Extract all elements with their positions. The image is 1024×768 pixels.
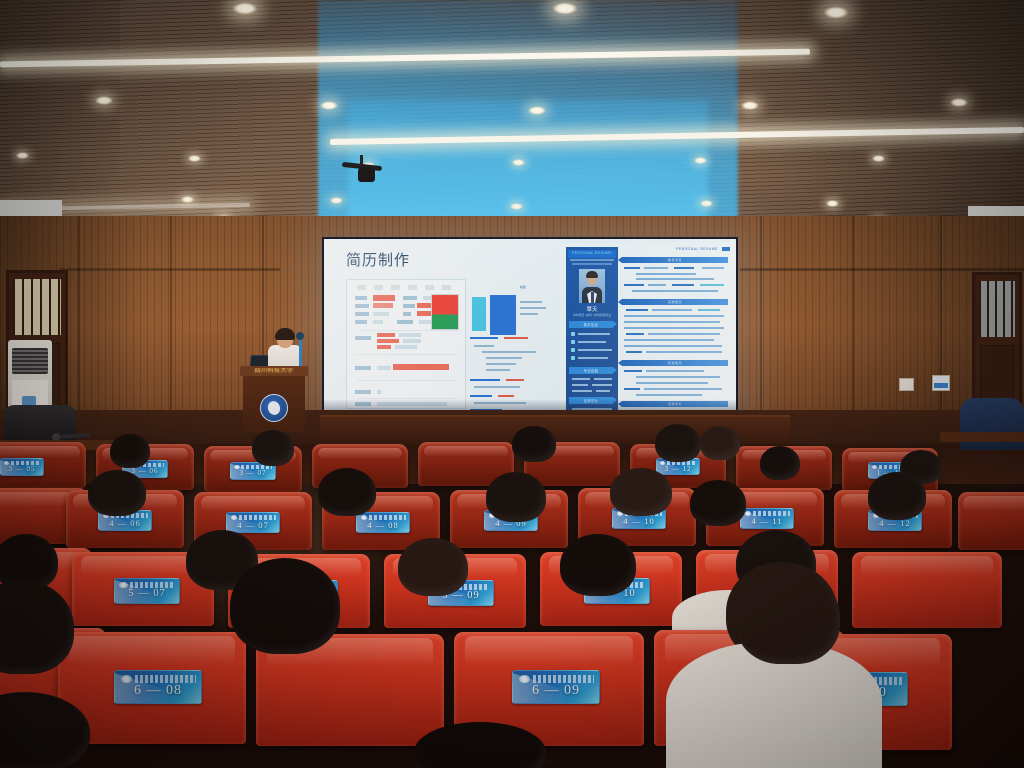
university-crest-icon (260, 394, 288, 422)
seat-number-plate: 6 — 09 (512, 670, 600, 704)
projection-screen: 简历制作 (322, 237, 738, 419)
resume-main-header-badge (722, 247, 730, 251)
ceiling-downlight (823, 6, 849, 19)
audience-head (512, 426, 556, 462)
wall-socket-plate[interactable] (932, 375, 950, 391)
audience-head (700, 426, 740, 460)
audience-head (110, 434, 150, 468)
resume-sidebar: PERSONAL RESUME 覃天 中共党员 | 本科 | 市场营销专业 (566, 247, 618, 415)
slide-resume-form-sample (346, 279, 466, 409)
resume-main-section: 获奖情况 (622, 360, 728, 366)
audience-head (736, 570, 840, 664)
ceiling-downlight (330, 197, 343, 204)
resume-sidebar-header-bar: PERSONAL RESUME (568, 250, 616, 258)
resume-section-label: 基本信息 (569, 322, 613, 327)
ac-vent-grille (12, 348, 48, 374)
ceiling-downlight (826, 200, 839, 207)
ceiling-shadow-left (0, 0, 120, 232)
door-lattice-window (13, 279, 61, 335)
ceiling-downlight (512, 159, 525, 166)
resume-main-section: 实践经历 (622, 299, 728, 305)
ceiling-projector (342, 155, 382, 183)
audience-head (655, 424, 701, 462)
resume-name: 覃天 (566, 305, 618, 313)
ceiling-downlight (95, 96, 113, 105)
ceiling-blue-reflection-inner (348, 100, 708, 232)
ceiling-downlight (188, 155, 201, 162)
seat[interactable] (958, 492, 1024, 550)
slide-template-swatch-blue (490, 295, 516, 335)
resume-main-section-label: 教育背景 (622, 258, 728, 262)
audience-seating: 3 — 05 3 — 06 3 — 07 3 — 12 (0, 430, 1024, 768)
resume-main-section-label: 实践经历 (622, 300, 728, 304)
lectern-podium[interactable]: 四川科技大学 (243, 366, 305, 432)
audience-head (560, 534, 636, 596)
ceiling-downlight (872, 155, 885, 162)
microphone-head[interactable] (296, 332, 304, 340)
ceiling-downlight (950, 98, 968, 107)
projector-body (358, 168, 375, 182)
resume-main-section: 教育背景 (622, 257, 728, 263)
resume-section-label: 专业技能 (569, 368, 613, 373)
audience-head (230, 558, 340, 654)
form-header-row (357, 285, 453, 290)
resume-sidebar-section: 专业技能 (569, 367, 613, 374)
seat-number-plate: 6 — 08 (114, 670, 202, 704)
ceiling-downlight (232, 2, 258, 15)
slide-middle-caption: 模板 (520, 285, 526, 289)
ceiling-downlight (741, 101, 759, 110)
ceiling-downlight (552, 2, 578, 15)
audience-head (252, 430, 294, 466)
form-photo-placeholder (431, 294, 459, 330)
seat-number-plate: 3 — 05 (0, 458, 44, 476)
slide-title: 简历制作 (346, 249, 410, 270)
resume-main-section-label: 获奖情况 (622, 361, 728, 365)
resume-sidebar-subline (570, 259, 614, 261)
audience-head (486, 472, 546, 522)
resume-sidebar-header-text: PERSONAL RESUME (568, 251, 616, 255)
ceiling-downlight (694, 157, 707, 164)
podium-nameplate-text: 四川科技大学 (249, 368, 299, 375)
ceiling-downlight (700, 200, 713, 207)
resume-main-header-text: PERSONAL RESUME (676, 247, 718, 251)
seat-number-plate: 4 — 11 (740, 508, 794, 529)
presentation-slide: 简历制作 (324, 239, 736, 417)
resume-main-column: PERSONAL RESUME 教育背景 实践经历 (622, 247, 730, 415)
door-lattice-window (979, 281, 1015, 337)
ceiling-downlight (510, 203, 523, 210)
ceiling-downlight (320, 101, 338, 110)
lecture-hall-photo: 简历制作 (0, 0, 1024, 768)
ceiling-shadow-right (734, 0, 1024, 232)
ceiling-downlight (181, 196, 194, 203)
seat-number-plate: 4 — 08 (356, 512, 410, 533)
presenter-hair (275, 328, 295, 340)
wall-switch-plate[interactable] (899, 378, 914, 391)
seat[interactable]: 3 — 05 (0, 442, 86, 488)
ceiling-downlight (528, 106, 546, 115)
resume-portrait-photo (579, 269, 605, 303)
resume-name-subtitle: 中共党员 | 本科 | 市场营销专业 (566, 313, 618, 317)
audience-head (690, 480, 746, 526)
slide-resume-template: PERSONAL RESUME 覃天 中共党员 | 本科 | 市场营销专业 (560, 243, 734, 417)
audience-head (610, 468, 672, 516)
slide-template-swatch-cyan (472, 297, 486, 331)
audience-head (760, 446, 800, 480)
audience-head (398, 538, 468, 596)
audience-head (318, 468, 376, 516)
audience-head (88, 470, 146, 516)
seat[interactable] (852, 552, 1002, 628)
ceiling-downlight (16, 152, 29, 159)
audience-head (868, 472, 926, 520)
seat-number-plate: 4 — 07 (226, 512, 280, 533)
resume-sidebar-subline (572, 263, 612, 265)
resume-sidebar-section: 基本信息 (569, 321, 613, 328)
seat-number-plate: 5 — 07 (114, 578, 180, 604)
ceiling (0, 0, 1024, 232)
